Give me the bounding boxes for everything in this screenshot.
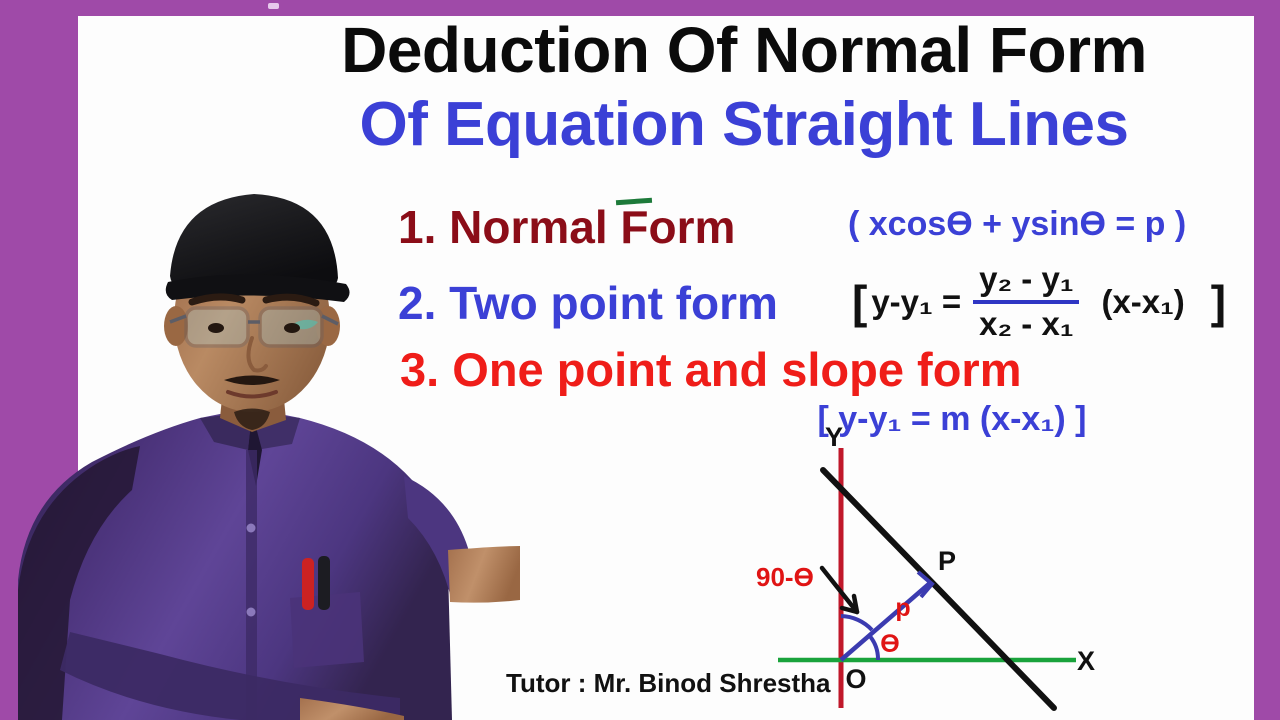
tutor-credit: Tutor : Mr. Binod Shrestha (506, 668, 831, 699)
page-title-line1: Deduction Of Normal Form (232, 18, 1256, 82)
label-x-axis: X (1077, 646, 1095, 676)
slide-canvas: Deduction Of Normal Form Of Equation Str… (0, 0, 1280, 720)
page-title-line2: Of Equation Straight Lines (232, 94, 1256, 156)
top-speck-mark (268, 3, 279, 9)
list-item-one-point-slope: 3. One point and slope form (400, 342, 1022, 397)
label-y-axis: Y (825, 422, 843, 452)
list-item-two-point-form: 2. Two point form (398, 276, 778, 330)
label-origin: O (845, 664, 866, 694)
two-point-lhs: y-y₁ = (871, 283, 961, 321)
label-point-p: P (938, 546, 956, 576)
complement-angle-arc (841, 616, 872, 630)
label-normal-length: p (895, 594, 910, 622)
bracket-close: ] (1211, 279, 1226, 325)
fraction-bar (973, 300, 1079, 304)
bracket-open: [ (852, 279, 867, 325)
fraction-numerator: y₂ - y₁ (973, 262, 1079, 297)
frame-band-right (1254, 0, 1280, 720)
theta-angle-arc (868, 634, 878, 660)
label-ninety-minus-theta: 90-ϴ (756, 562, 814, 592)
formula-normal-form: ( xcosϴ + ysinϴ = p ) (848, 205, 1186, 244)
formula-two-point-form: [ y-y₁ = y₂ - y₁ x₂ - x₁ (x-x₁) ] (852, 262, 1226, 341)
instructor-raised-arm (448, 546, 520, 603)
two-point-fraction: y₂ - y₁ x₂ - x₁ (973, 262, 1079, 341)
list-item-normal-form: 1. Normal Form (398, 200, 735, 254)
two-point-rhs: (x-x₁) (1101, 283, 1184, 321)
label-theta: ϴ (880, 630, 899, 658)
fraction-denominator: x₂ - x₁ (973, 307, 1079, 342)
